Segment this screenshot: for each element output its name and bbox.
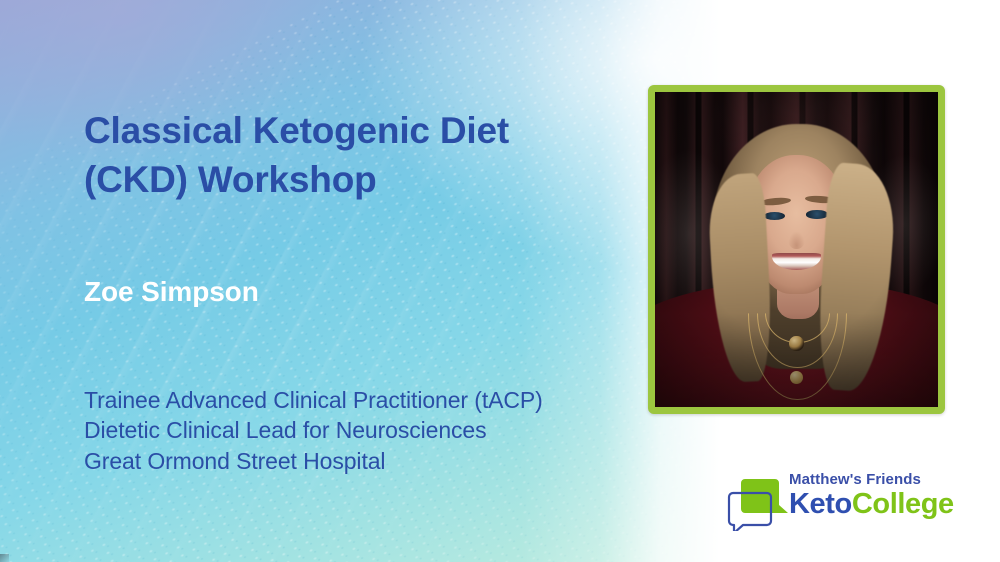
- slide-title-line-2: (CKD) Workshop: [84, 156, 604, 205]
- speech-bubble-logo-mark-icon: [727, 475, 789, 531]
- logo-brand-name: KetoCollege: [789, 489, 954, 519]
- affiliation-line-1: Trainee Advanced Clinical Practitioner (…: [84, 385, 644, 415]
- keto-college-logo: Matthew's Friends KetoCollege: [727, 472, 937, 534]
- speaker-portrait-frame: [648, 85, 945, 414]
- portrait-eye-right: [806, 210, 827, 218]
- slide-title-line-1: Classical Ketogenic Diet: [84, 107, 604, 156]
- logo-organisation-name: Matthew's Friends: [789, 472, 954, 488]
- portrait-eye-left: [764, 212, 785, 220]
- logo-brand-college: College: [852, 488, 954, 520]
- speaker-portrait-photo: [655, 92, 938, 407]
- slide-title: Classical Ketogenic Diet (CKD) Workshop: [84, 107, 604, 205]
- presenter-name: Zoe Simpson: [84, 276, 259, 308]
- affiliation-line-3: Great Ormond Street Hospital: [84, 446, 644, 476]
- portrait-lower-shadow: [655, 313, 938, 408]
- presenter-affiliation: Trainee Advanced Clinical Practitioner (…: [84, 385, 644, 476]
- presentation-slide: Classical Ketogenic Diet (CKD) Workshop …: [0, 0, 1000, 562]
- corner-artifact: [0, 554, 9, 562]
- logo-wordmark: Matthew's Friends KetoCollege: [789, 472, 954, 519]
- affiliation-line-2: Dietetic Clinical Lead for Neurosciences: [84, 415, 644, 445]
- logo-brand-keto: Keto: [789, 488, 852, 520]
